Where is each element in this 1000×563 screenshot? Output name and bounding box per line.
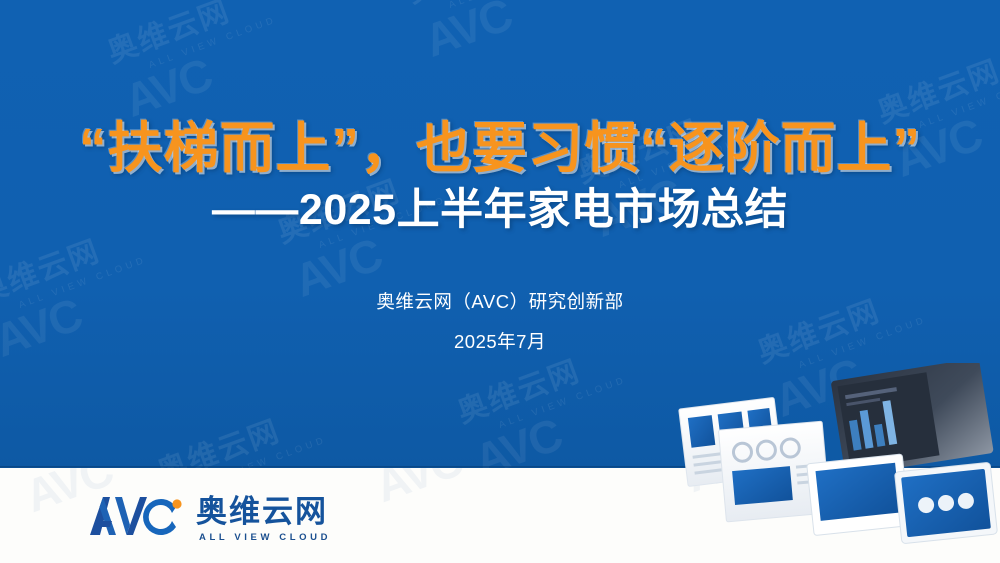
logo-text-block: 奥维云网 ALL VIEW CLOUD [196, 495, 331, 543]
logo-name-cn: 奥维云网 [196, 496, 331, 527]
avc-logo: 奥维云网 ALL VIEW CLOUD [88, 495, 331, 543]
logo-name-en: ALL VIEW CLOUD [199, 532, 331, 543]
date-line: 2025年7月 [0, 328, 1000, 354]
author-line: 奥维云网（AVC）研究创新部 [0, 288, 1000, 314]
page-title: “扶梯而上”，也要习惯“逐阶而上” [0, 0, 1000, 180]
avc-mark-icon [88, 495, 184, 537]
title-block: “扶梯而上”，也要习惯“逐阶而上” ——2025上半年家电市场总结 奥维云网（A… [0, 0, 1000, 354]
slide-cover: 奥维云网 ALL VIEW CLOUD AVC 奥维云网 ALL VIEW CL… [0, 0, 1000, 563]
page-subtitle: ——2025上半年家电市场总结 [0, 186, 1000, 235]
